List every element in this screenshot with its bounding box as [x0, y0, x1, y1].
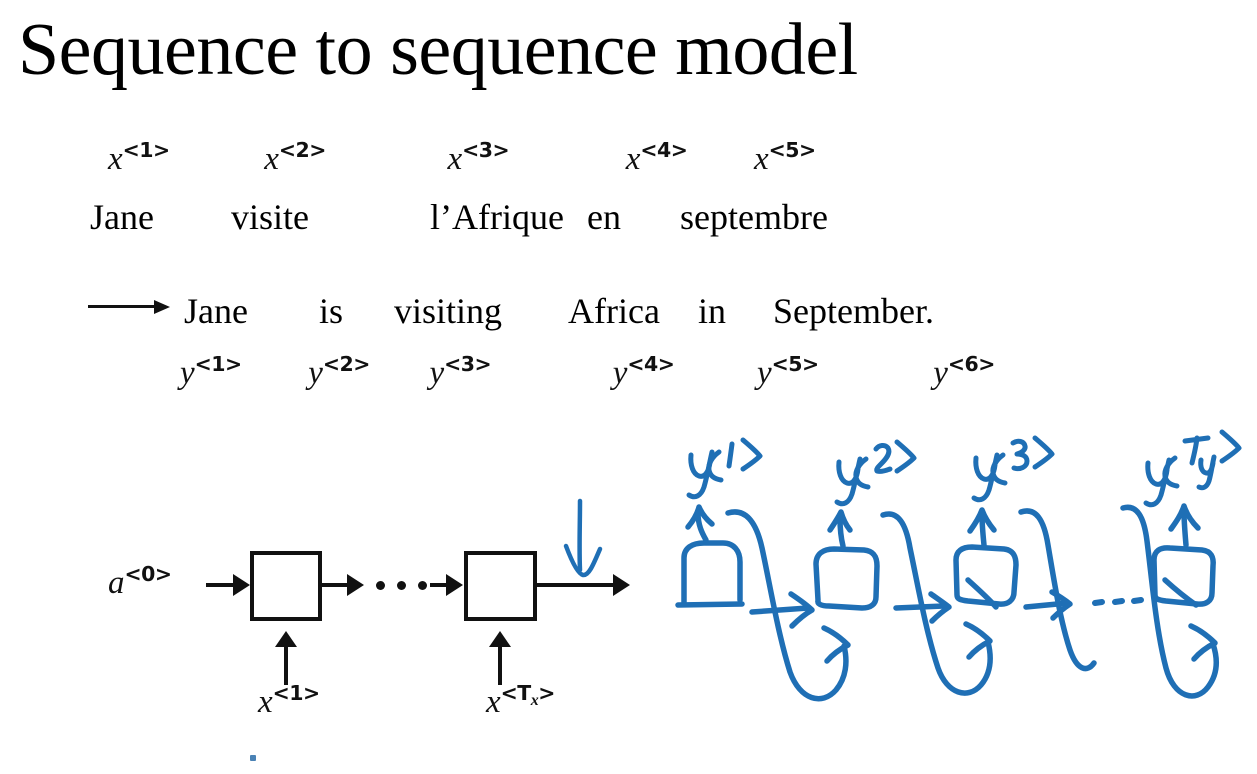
encoder-initial-state-label: a<0> [108, 562, 171, 602]
decoder-feedback-curve-3 [1021, 511, 1094, 669]
decoder-cell-2 [816, 549, 877, 608]
decoder-cell-1 [678, 543, 742, 605]
decoder-output-label-3 [974, 438, 1052, 500]
target-word-6: September. [773, 290, 934, 332]
decoder-output-arrow-1 [688, 507, 712, 540]
decoder-output-label-2 [837, 442, 914, 504]
source-word-5: septembre [680, 196, 828, 238]
decoder-cell-last [1154, 548, 1213, 605]
decoder-link-arrow-2 [896, 594, 949, 621]
decoder-feedback-curve-2 [883, 514, 990, 693]
encoder-input-label-1: x<1> [258, 681, 320, 721]
decoder-feedback-curve-1 [728, 512, 848, 699]
decoder-output-arrow-3 [970, 510, 994, 545]
encoder-diagram: a<0> x<1> [0, 0, 660, 774]
decoder-link-arrow-3 [1026, 592, 1070, 618]
token-x-5: x<5> [754, 138, 816, 178]
decoder-cell-3 [956, 547, 1016, 607]
decoder-output-arrow-2 [830, 512, 850, 546]
token-y-6: y<6> [933, 352, 995, 392]
decoder-link-arrow-1 [752, 594, 812, 626]
stray-ink-dot [250, 755, 256, 761]
decoder-output-label-1 [689, 440, 760, 497]
encoder-cell-last [464, 551, 537, 621]
decoder-feedback-curve-last [1123, 507, 1216, 696]
encoder-input-label-last: x<Tx> [486, 681, 555, 721]
target-word-5: in [698, 290, 764, 332]
decoder-ellipsis [1095, 600, 1141, 603]
token-y-5: y<5> [757, 352, 925, 392]
decoder-output-arrow-last [1171, 506, 1198, 545]
encoder-cell-1 [250, 551, 322, 621]
decoder-output-label-last [1146, 432, 1239, 505]
